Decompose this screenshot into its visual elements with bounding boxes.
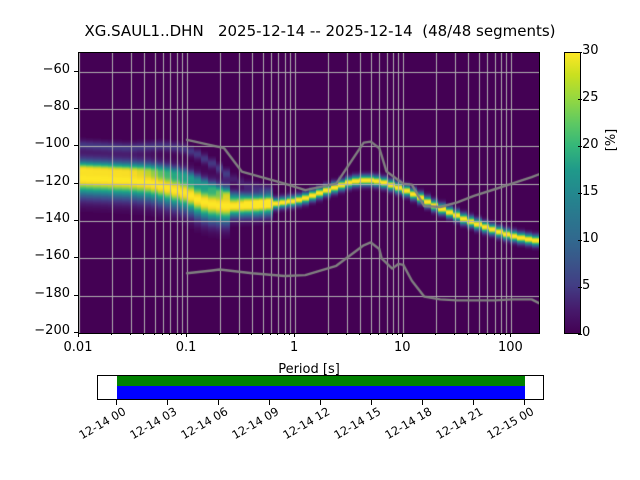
x-minor-tick-mark: [162, 333, 163, 335]
x-tick-label: 100: [498, 340, 523, 355]
colorbar-tick-label: 10: [582, 231, 599, 246]
y-tick-label: −180: [28, 286, 70, 301]
x-minor-tick-mark: [270, 333, 271, 335]
noise-model-canvas: [79, 53, 539, 333]
x-minor-tick-mark: [154, 333, 155, 335]
y-tick-label: −100: [28, 136, 70, 151]
x-minor-tick-mark: [454, 333, 455, 335]
y-tick-label: −160: [28, 248, 70, 263]
ppsd-axes[interactable]: [78, 52, 540, 334]
y-tick-mark: [74, 183, 78, 184]
timeline-tick-mark: [167, 400, 168, 405]
colorbar-tick-label: 0: [582, 325, 590, 340]
timeline-tick-mark: [218, 400, 219, 405]
x-minor-tick-mark: [169, 333, 170, 335]
timeline-tick-label: 12-14 12: [280, 406, 329, 442]
y-tick-mark: [74, 257, 78, 258]
x-minor-tick-mark: [378, 333, 379, 335]
x-tick-mark: [186, 333, 187, 337]
timeline-tick-label: 12-14 15: [332, 406, 381, 442]
timeline-bar-green: [117, 376, 526, 386]
x-minor-tick-mark: [370, 333, 371, 335]
timeline-tick-mark: [422, 400, 423, 405]
timeline-tick-mark: [320, 400, 321, 405]
x-minor-tick-mark: [494, 333, 495, 335]
x-minor-tick-mark: [505, 333, 506, 335]
timeline-tick-mark: [524, 400, 525, 405]
x-minor-tick-mark: [346, 333, 347, 335]
timeline-tick-mark: [269, 400, 270, 405]
x-tick-mark: [78, 333, 79, 337]
x-minor-tick-mark: [327, 333, 328, 335]
colorbar-tick-mark: [578, 334, 582, 335]
x-minor-tick-mark: [486, 333, 487, 335]
y-tick-label: −140: [28, 211, 70, 226]
y-tick-label: −60: [28, 62, 70, 77]
x-minor-tick-mark: [478, 333, 479, 335]
timeline-tick-mark: [371, 400, 372, 405]
colorbar-tick-mark: [578, 99, 582, 100]
colorbar-tick-label: 30: [582, 43, 599, 58]
x-tick-label: 0.01: [64, 340, 93, 355]
colorbar-label: [%]: [604, 100, 619, 180]
timeline-tick-mark: [116, 400, 117, 405]
colorbar-tick-label: 20: [582, 137, 599, 152]
timeline-bar-blue: [117, 386, 526, 399]
x-minor-tick-mark: [251, 333, 252, 335]
ppsd-figure: XG.SAUL1..DHN 2025-12-14 -- 2025-12-14 (…: [0, 0, 640, 480]
x-minor-tick-mark: [359, 333, 360, 335]
colorbar-tick-mark: [578, 193, 582, 194]
x-minor-tick-mark: [467, 333, 468, 335]
x-minor-tick-mark: [238, 333, 239, 335]
timeline-coverage-box[interactable]: [97, 375, 544, 400]
y-tick-label: −80: [28, 99, 70, 114]
figure-title: XG.SAUL1..DHN 2025-12-14 -- 2025-12-14 (…: [0, 22, 640, 40]
y-tick-mark: [74, 220, 78, 221]
y-tick-mark: [74, 295, 78, 296]
colorbar-tick-label: 25: [582, 90, 599, 105]
colorbar-tick-mark: [578, 146, 582, 147]
colorbar-tick-mark: [578, 52, 582, 53]
colorbar-tick-mark: [578, 287, 582, 288]
x-minor-tick-mark: [289, 333, 290, 335]
colorbar-tick-label: 15: [582, 184, 599, 199]
x-minor-tick-mark: [277, 333, 278, 335]
x-tick-label: 10: [394, 340, 411, 355]
x-tick-label: 0.1: [176, 340, 197, 355]
x-minor-tick-mark: [397, 333, 398, 335]
x-minor-tick-mark: [143, 333, 144, 335]
x-minor-tick-mark: [435, 333, 436, 335]
y-tick-label: −120: [28, 174, 70, 189]
timeline-tick-mark: [473, 400, 474, 405]
x-minor-tick-mark: [284, 333, 285, 335]
colorbar-tick-mark: [578, 240, 582, 241]
x-minor-tick-mark: [500, 333, 501, 335]
x-minor-tick-mark: [111, 333, 112, 335]
y-tick-mark: [74, 108, 78, 109]
x-minor-tick-mark: [262, 333, 263, 335]
timeline-tick-label: 12-14 09: [229, 406, 278, 442]
y-tick-mark: [74, 145, 78, 146]
x-minor-tick-mark: [392, 333, 393, 335]
timeline-tick-label: 12-14 06: [178, 406, 227, 442]
x-minor-tick-mark: [181, 333, 182, 335]
y-tick-label: −200: [28, 323, 70, 338]
timeline-tick-label: 12-14 18: [383, 406, 432, 442]
x-minor-tick-mark: [176, 333, 177, 335]
timeline-tick-label: 12-14 21: [434, 406, 483, 442]
timeline-tick-label: 12-14 03: [127, 406, 176, 442]
x-tick-label: 1: [290, 340, 298, 355]
colorbar-tick-label: 5: [582, 278, 590, 293]
y-axis-label: Amplitude [m2/s4/Hz] [dB]: [0, 0, 5, 130]
y-tick-mark: [74, 71, 78, 72]
x-tick-mark: [294, 333, 295, 337]
x-minor-tick-mark: [130, 333, 131, 335]
x-minor-tick-mark: [386, 333, 387, 335]
x-minor-tick-mark: [219, 333, 220, 335]
x-tick-mark: [510, 333, 511, 337]
timeline-tick-label: 12-14 00: [76, 406, 125, 442]
x-tick-mark: [402, 333, 403, 337]
timeline-tick-label: 12-15 00: [485, 406, 534, 442]
